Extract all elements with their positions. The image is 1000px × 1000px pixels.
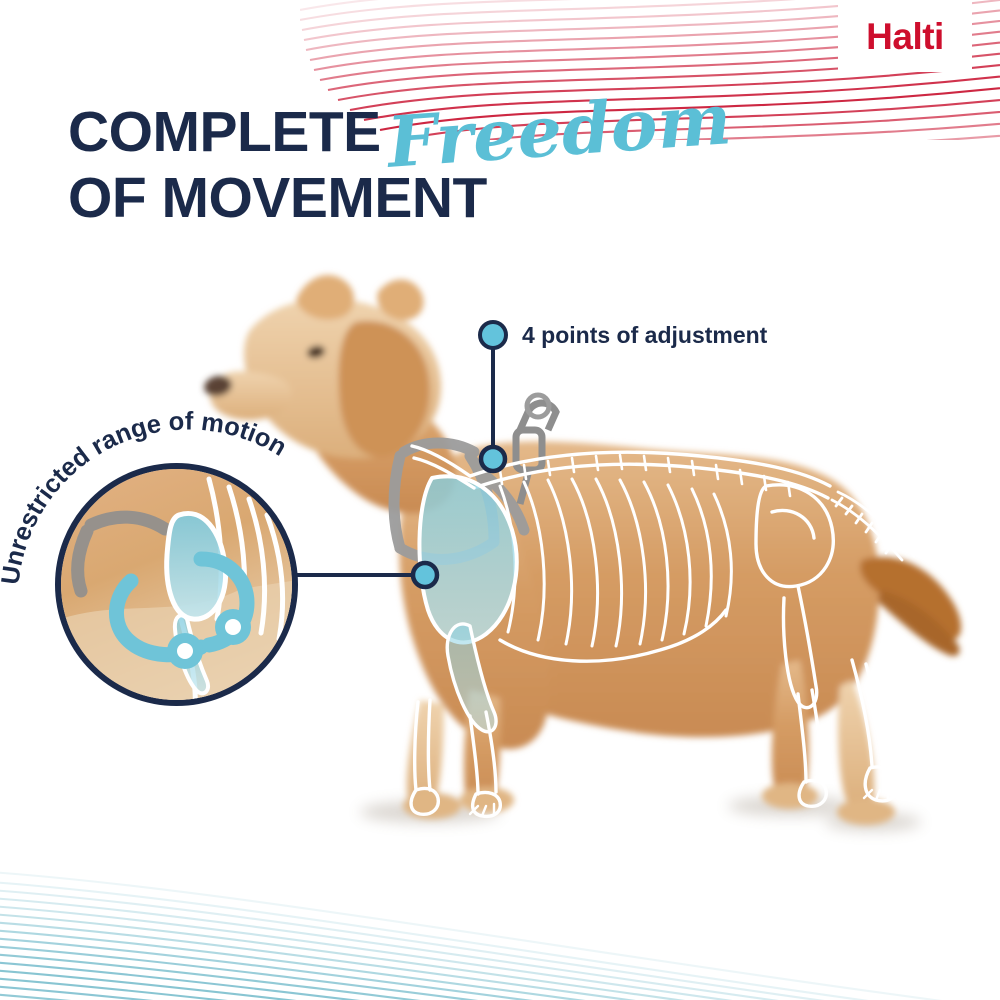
magnifier-inset (55, 463, 298, 706)
teal-dot-marker-icon (478, 320, 508, 350)
dog-photo (202, 275, 961, 825)
headline-line-1: COMPLETE Freedom (68, 92, 731, 162)
callout-adjustment: 4 points of adjustment (478, 320, 767, 350)
poster-canvas: Halti COMPLETE Freedom OF MOVEMENT (0, 0, 1000, 1000)
headline-complete: COMPLETE (68, 102, 381, 162)
page-title: COMPLETE Freedom OF MOVEMENT (68, 92, 731, 229)
halti-logo: Halti (838, 0, 972, 72)
headline-freedom-script: Freedom (385, 84, 733, 178)
halti-logo-text: Halti (866, 18, 944, 55)
callout-adjustment-label: 4 points of adjustment (522, 322, 767, 349)
